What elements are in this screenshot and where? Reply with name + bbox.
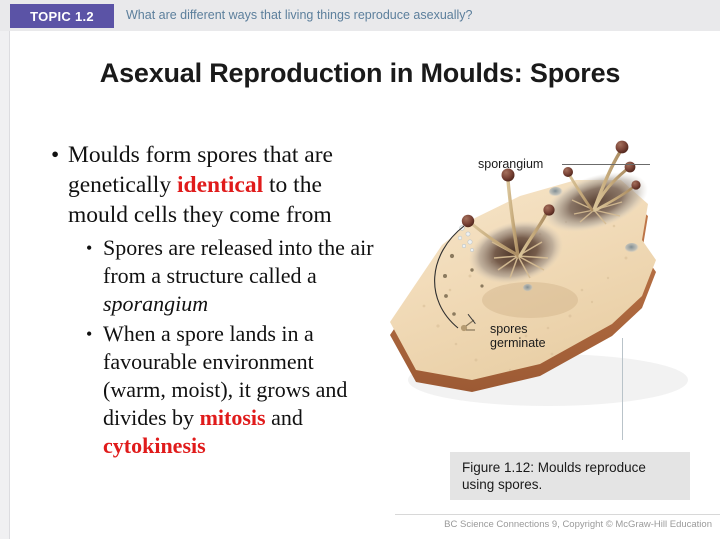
label-spores-line2: germinate xyxy=(490,336,546,350)
topic-badge: TOPIC 1.2 xyxy=(10,4,114,28)
mould-spot xyxy=(625,243,639,253)
bread-illustration-svg xyxy=(380,130,720,430)
mouldy-bread-figure: sporangium spores germinate xyxy=(380,130,720,430)
sporangium-head xyxy=(563,167,573,177)
label-spores-germinate: spores germinate xyxy=(490,322,546,350)
bullet2-text-part1: Spores are released into the air from a … xyxy=(103,235,374,288)
sporangium-head xyxy=(543,204,554,215)
slide-canvas: TOPIC 1.2 What are different ways that l… xyxy=(0,0,720,539)
mould-spot xyxy=(549,187,563,197)
content-list: • Moulds form spores that are geneticall… xyxy=(48,140,378,462)
bullet3-highlight-2: cytokinesis xyxy=(103,433,206,458)
figure-vertical-rule xyxy=(622,338,623,440)
left-margin-strip xyxy=(0,31,9,539)
sporangium-head xyxy=(462,215,474,227)
bullet-dot-icon: • xyxy=(86,234,92,262)
list-item: • Spores are released into the air from … xyxy=(86,234,378,318)
footer-divider xyxy=(395,514,720,515)
sporangium-leader-line xyxy=(562,164,650,165)
list-item: • When a spore lands in a favourable env… xyxy=(86,320,378,460)
page-title: Asexual Reproduction in Moulds: Spores xyxy=(0,58,720,89)
footer-copyright: BC Science Connections 9, Copyright © Mc… xyxy=(0,519,712,530)
mould-spot xyxy=(523,284,533,292)
sporangium-head xyxy=(616,141,629,154)
figure-caption-box: Figure 1.12: Moulds reproduce using spor… xyxy=(450,452,690,500)
bullet2-italic-term: sporangium xyxy=(103,291,208,316)
bullet-dot-icon: • xyxy=(86,320,92,348)
bullet1-highlight: identical xyxy=(177,172,263,198)
sub-list: • Spores are released into the air from … xyxy=(48,234,378,460)
list-item: • Moulds form spores that are geneticall… xyxy=(48,140,378,230)
bullet3-highlight-1: mitosis xyxy=(200,405,266,430)
bullet3-text-part2: and xyxy=(266,405,303,430)
bullet-dot-icon: • xyxy=(51,140,59,170)
header-question: What are different ways that living thin… xyxy=(126,8,472,22)
figure-caption-text: Figure 1.12: Moulds reproduce using spor… xyxy=(462,459,652,493)
header-bar: TOPIC 1.2 What are different ways that l… xyxy=(0,0,720,31)
sporangium-head xyxy=(631,180,640,189)
left-margin-divider xyxy=(9,31,10,539)
label-spores-line1: spores xyxy=(490,322,546,336)
label-sporangium: sporangium xyxy=(478,157,543,171)
